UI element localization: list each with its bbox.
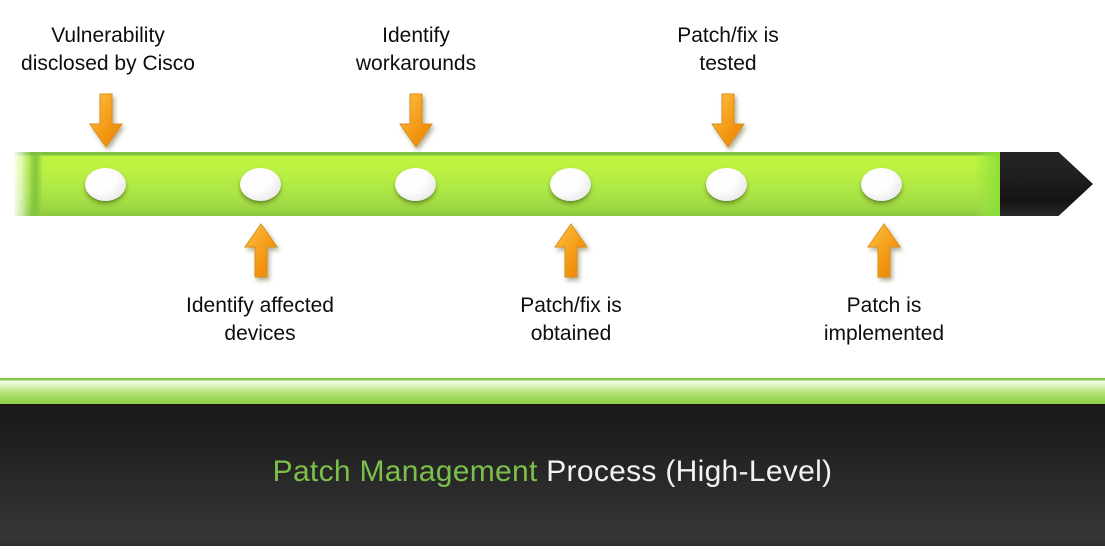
- process-timeline-bar: [14, 152, 1000, 216]
- up-arrow-icon: [243, 222, 279, 278]
- milestone-dot: [240, 168, 281, 201]
- down-arrow-icon: [88, 93, 124, 149]
- up-arrow-icon: [866, 222, 902, 278]
- caption-below-3: Patch is implemented: [788, 292, 980, 348]
- caption-above-1: Vulnerability disclosed by Cisco: [8, 22, 208, 78]
- down-arrow-icon: [398, 93, 434, 149]
- caption-above-3: Patch/fix is tested: [632, 22, 824, 78]
- down-arrow-icon: [710, 93, 746, 149]
- caption-below-1: Identify affected devices: [160, 292, 360, 348]
- slide-title-plain: Process (High-Level): [538, 455, 833, 488]
- milestone-dot: [395, 168, 436, 201]
- bar-right-edge: [974, 152, 1000, 216]
- milestone-dot: [706, 168, 747, 201]
- caption-below-2: Patch/fix is obtained: [475, 292, 667, 348]
- milestone-dot: [861, 168, 902, 201]
- bar-fill: [14, 152, 1000, 216]
- bar-left-stripe: [30, 154, 42, 214]
- slide-title: Patch Management Process (High-Level): [0, 452, 1105, 492]
- milestone-dot: [550, 168, 591, 201]
- milestone-dot: [85, 168, 126, 201]
- caption-above-2: Identify workarounds: [320, 22, 512, 78]
- footer-green-band: [0, 378, 1105, 404]
- up-arrow-icon: [553, 222, 589, 278]
- slide-root: Vulnerability disclosed by Cisco Identif…: [0, 0, 1105, 554]
- slide-title-accent: Patch Management: [273, 455, 538, 488]
- footer-baseline: [0, 546, 1105, 554]
